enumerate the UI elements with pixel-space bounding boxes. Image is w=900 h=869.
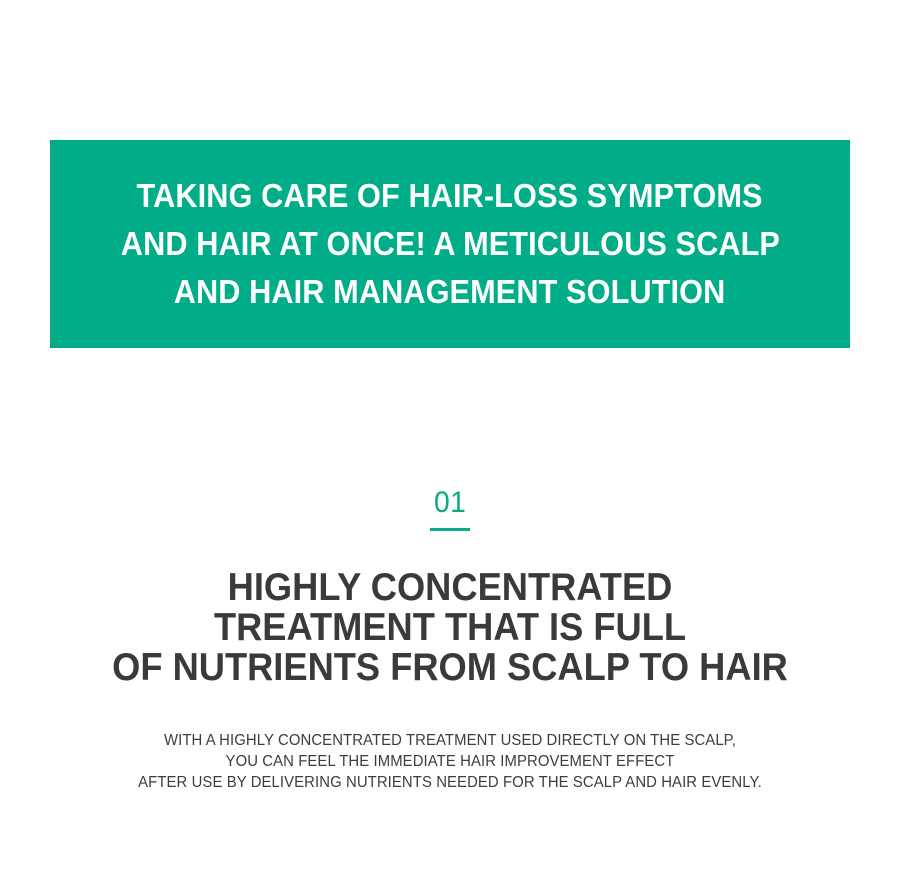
product-detail-page: TAKING CARE OF HAIR-LOSS SYMPTOMS AND HA… [0, 0, 900, 869]
section-body-line-3: AFTER USE BY DELIVERING NUTRIENTS NEEDED… [32, 772, 869, 793]
section-heading-line-1: HIGHLY CONCENTRATED [32, 568, 869, 608]
banner-headline-line-3: AND HAIR MANAGEMENT SOLUTION [174, 268, 726, 316]
promo-headline-banner: TAKING CARE OF HAIR-LOSS SYMPTOMS AND HA… [50, 140, 850, 348]
section-body-copy: WITH A HIGHLY CONCENTRATED TREATMENT USE… [0, 730, 900, 793]
banner-headline-line-1: TAKING CARE OF HAIR-LOSS SYMPTOMS [137, 172, 763, 220]
section-body-line-1: WITH A HIGHLY CONCENTRATED TREATMENT USE… [32, 730, 869, 751]
section-heading-line-2: TREATMENT THAT IS FULL [32, 608, 869, 648]
section-body-line-2: YOU CAN FEEL THE IMMEDIATE HAIR IMPROVEM… [32, 751, 869, 772]
banner-headline-line-2: AND HAIR AT ONCE! A METICULOUS SCALP [120, 220, 779, 268]
section-number-label: 01 [434, 486, 466, 520]
section-heading-line-3: OF NUTRIENTS FROM SCALP TO HAIR [32, 648, 869, 688]
section-number-block: 01 [0, 486, 900, 531]
section-heading: HIGHLY CONCENTRATED TREATMENT THAT IS FU… [0, 568, 900, 688]
section-number-underline [430, 528, 470, 531]
